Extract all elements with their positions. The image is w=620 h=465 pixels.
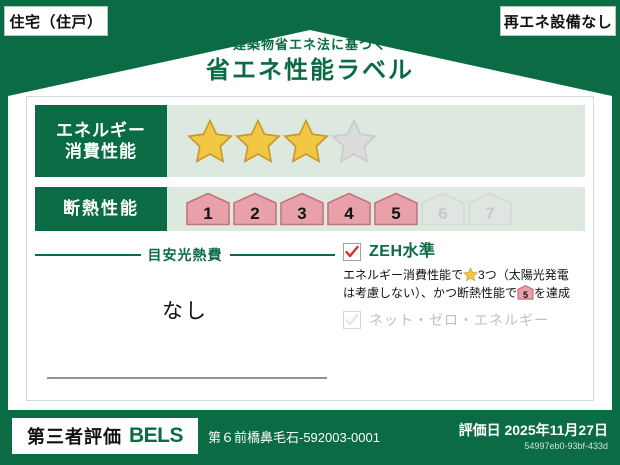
insulation-performance-label: 断熱性能 (35, 187, 167, 231)
insulation-level-number: 3 (297, 205, 306, 226)
mini-house-level: 5 (517, 286, 534, 304)
evaluation-date-label: 評価日 (459, 422, 501, 438)
zeh-desc-part3: を達成 (534, 286, 570, 300)
insulation-level-active: 5 (373, 192, 419, 226)
footer-bar: 第三者評価 BELS 第６前橋鼻毛石-592003-0001 評価日 2025年… (0, 410, 620, 465)
insulation-level-number: 7 (485, 205, 494, 226)
insulation-level-number: 2 (250, 205, 259, 226)
utility-cost-value: なし (35, 295, 335, 325)
energy-star-rating (167, 105, 585, 177)
insulation-level-active: 4 (326, 192, 372, 226)
net-zero-energy-label: ネット・ゼロ・エネルギー (369, 311, 549, 329)
zeh-checkbox (343, 243, 361, 261)
star-filled (235, 118, 281, 164)
star-empty (331, 118, 377, 164)
utility-cost-heading-text: 目安光熱費 (148, 245, 223, 265)
badge-building-type: 住宅（住戸） (4, 6, 108, 36)
star-filled (187, 118, 233, 164)
insulation-level-inactive: 7 (467, 192, 513, 226)
insulation-level-number: 6 (438, 205, 447, 226)
label-lower-section: 目安光熱費 なし ZEH水準 エネルギー消費性能で (27, 237, 595, 402)
check-icon-disabled (345, 313, 359, 327)
insulation-label-text: 断熱性能 (63, 198, 139, 219)
insulation-level-number: 1 (203, 205, 212, 226)
badge-renewable-equipment: 再エネ設備なし (500, 6, 616, 36)
energy-label-line1: エネルギー (56, 120, 146, 141)
heading-rule-right (230, 254, 336, 256)
zeh-desc-part1: エネルギー消費性能で (343, 268, 463, 282)
energy-performance-label: エネルギー 消費性能 (35, 105, 167, 177)
insulation-level-number: 5 (391, 205, 400, 226)
star-filled (283, 118, 329, 164)
evaluation-date-value: 2025年11月27日 (504, 422, 608, 438)
insulation-level-inactive: 6 (420, 192, 466, 226)
bels-logo-jp-text: 第三者評価 (27, 423, 122, 449)
energy-performance-label: 住宅（住戸） 再エネ設備なし 建築物省エネ法に基づく 省エネ性能ラベル エネルギ… (0, 0, 620, 465)
evaluation-date: 評価日 2025年11月27日 (459, 420, 608, 440)
label-content-panel: エネルギー 消費性能 断熱性能 1234567 目安光熱費 なし (26, 96, 594, 401)
zeh-standard-title: ZEH水準 (369, 243, 436, 261)
energy-label-line2: 消費性能 (65, 141, 137, 162)
mini-house-icon: 5 (517, 285, 534, 300)
insulation-level-active: 1 (185, 192, 231, 226)
insulation-performance-row: 断熱性能 1234567 (35, 187, 585, 231)
net-zero-energy-checkbox (343, 311, 361, 329)
utility-cost-underline (47, 377, 327, 379)
certificate-number: 第６前橋鼻毛石-592003-0001 (208, 427, 380, 446)
insulation-level-active: 3 (279, 192, 325, 226)
label-title-block: 建築物省エネ法に基づく 省エネ性能ラベル (0, 36, 620, 86)
utility-cost-block: 目安光熱費 なし (35, 245, 335, 325)
check-icon (345, 245, 359, 259)
net-zero-energy-row: ネット・ゼロ・エネルギー (343, 311, 591, 329)
mini-star-icon (463, 267, 478, 282)
heading-rule-left (35, 254, 141, 256)
zeh-desc-star-count: 3つ（太陽光発電 (478, 268, 569, 282)
document-id: 54997eb0-93bf-433d (524, 441, 608, 451)
zeh-standard-row: ZEH水準 (343, 243, 591, 261)
bels-logo: 第三者評価 BELS (12, 418, 198, 454)
bels-logo-en-text: BELS (129, 424, 183, 448)
insulation-level-number: 4 (344, 205, 353, 226)
zeh-description: エネルギー消費性能で 3つ（太陽光発電 は考慮しない）、かつ断熱性能で 5 を達… (343, 266, 591, 302)
page-title: 省エネ性能ラベル (0, 56, 620, 86)
zeh-desc-part2: は考慮しない）、かつ断熱性能で (343, 286, 517, 300)
title-subtitle: 建築物省エネ法に基づく (0, 36, 620, 54)
utility-cost-heading: 目安光熱費 (35, 245, 335, 265)
insulation-level-scale: 1234567 (167, 187, 585, 231)
insulation-level-active: 2 (232, 192, 278, 226)
energy-performance-row: エネルギー 消費性能 (35, 105, 585, 177)
zeh-block: ZEH水準 エネルギー消費性能で 3つ（太陽光発電 は考慮しない）、かつ断熱性能… (343, 243, 591, 329)
